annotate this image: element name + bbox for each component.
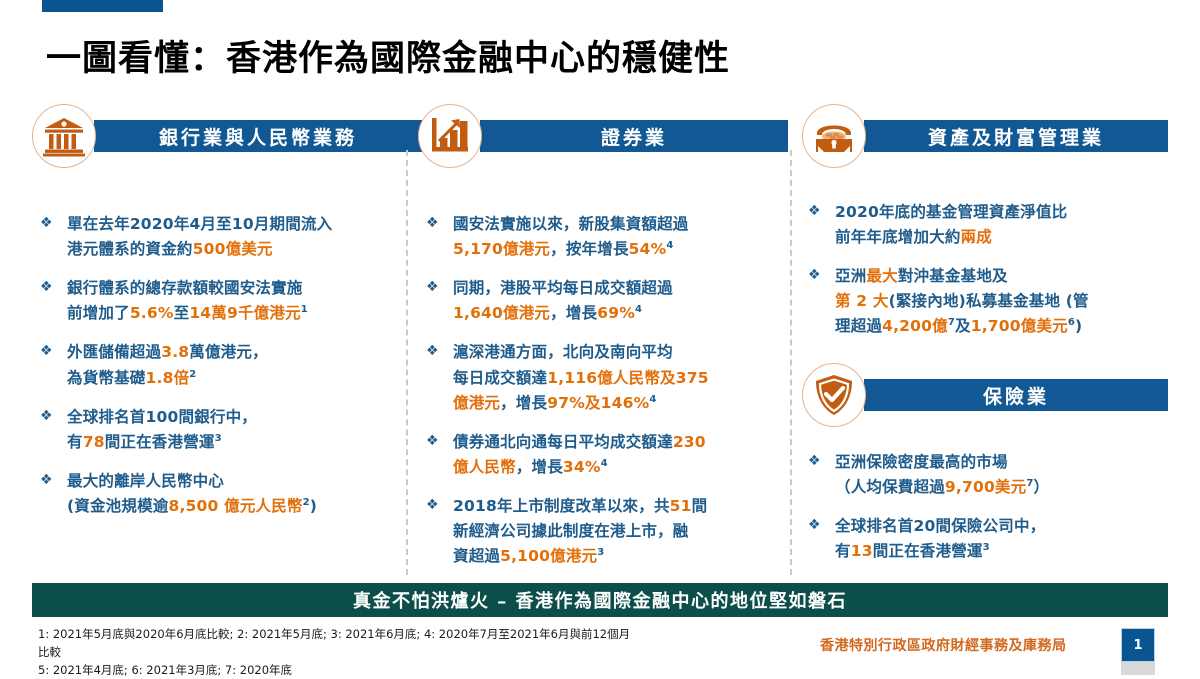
section-ribbon-securities: 證券業: [480, 120, 788, 152]
section-label-securities: 證券業: [601, 123, 667, 150]
section-ribbon-banking: 銀行業與人民幣業務: [94, 120, 422, 152]
list-item: 國安法實施以來，新股集資額超過5,170億港元，按年增長54%4: [424, 212, 772, 262]
section-label-asset: 資產及財富管理業: [928, 123, 1104, 150]
list-item: 銀行體系的總存款額較國安法實施前增加了5.6%至14萬9千億港元1: [38, 276, 398, 326]
list-item: 亞洲最大對沖基金基地及第 2 大(緊接內地)私募基金基地 (管理超過4,200億…: [806, 264, 1166, 339]
list-item: 外匯儲備超過3.8萬億港元，為貨幣基礎1.8倍2: [38, 340, 398, 390]
page-number-badge: 1: [1121, 628, 1155, 662]
page-badge-shadow: [1121, 662, 1155, 675]
section-header-asset: 資產及財富管理業: [802, 104, 1168, 168]
column-banking: 單在去年2020年4月至10月期間流入港元體系的資金約500億美元 銀行體系的總…: [38, 212, 398, 533]
section-ribbon-asset: 資產及財富管理業: [864, 120, 1168, 152]
summary-banner-text: 真金不怕洪爐火 – 香港作為國際金融中心的地位堅如磐石: [353, 587, 847, 613]
bar-chart-icon: [418, 104, 482, 168]
column-securities: 國安法實施以來，新股集資額超過5,170億港元，按年增長54%4 同期，港股平均…: [424, 212, 772, 583]
section-header-insurance: 保險業: [802, 363, 1168, 427]
org-credit: 香港特別行政區政府財經事務及庫務局: [820, 635, 1067, 655]
section-header-banking: 銀行業與人民幣業務: [32, 104, 422, 168]
section-header-securities: 證券業: [418, 104, 788, 168]
list-item: 全球排名首20間保險公司中，有13間正在香港營運3: [806, 514, 1166, 564]
summary-banner: 真金不怕洪爐火 – 香港作為國際金融中心的地位堅如磐石: [32, 583, 1168, 617]
list-item: 滬深港通方面，北向及南向平均每日成交額達1,116億人民幣及375億港元，增長9…: [424, 340, 772, 415]
list-item: 單在去年2020年4月至10月期間流入港元體系的資金約500億美元: [38, 212, 398, 262]
treasure-chest-icon: [802, 104, 866, 168]
section-label-banking: 銀行業與人民幣業務: [159, 123, 357, 150]
column-insurance: 亞洲保險密度最高的市場（人均保費超過9,700美元7） 全球排名首20間保險公司…: [806, 450, 1166, 578]
bank-icon: [32, 104, 96, 168]
column-divider-1: [406, 150, 408, 575]
shield-check-icon: [802, 363, 866, 427]
list-item: 亞洲保險密度最高的市場（人均保費超過9,700美元7）: [806, 450, 1166, 500]
section-label-insurance: 保險業: [983, 382, 1049, 409]
list-item: 2020年底的基金管理資產淨值比前年年底增加大約兩成: [806, 200, 1166, 250]
list-item: 2018年上市制度改革以來，共51間新經濟公司據此制度在港上市，融資超過5,10…: [424, 494, 772, 569]
column-asset: 2020年底的基金管理資產淨值比前年年底增加大約兩成 亞洲最大對沖基金基地及第 …: [806, 200, 1166, 354]
top-accent-bar: [42, 0, 163, 12]
list-item: 同期，港股平均每日成交額超過1,640億港元，增長69%4: [424, 276, 772, 326]
section-ribbon-insurance: 保險業: [864, 379, 1168, 411]
page-title: 一圖看懂：香港作為國際金融中心的穩健性: [46, 30, 1046, 81]
list-item: 全球排名首100間銀行中，有78間正在香港營運3: [38, 405, 398, 455]
list-item: 最大的離岸人民幣中心(資金池規模逾8,500 億元人民幣2): [38, 469, 398, 519]
column-divider-2: [790, 150, 792, 575]
list-item: 債券通北向通每日平均成交額達230億人民幣，增長34%4: [424, 430, 772, 480]
footnotes: 1: 2021年5月底與2020年6月底比較; 2: 2021年5月底; 3: …: [38, 626, 638, 679]
